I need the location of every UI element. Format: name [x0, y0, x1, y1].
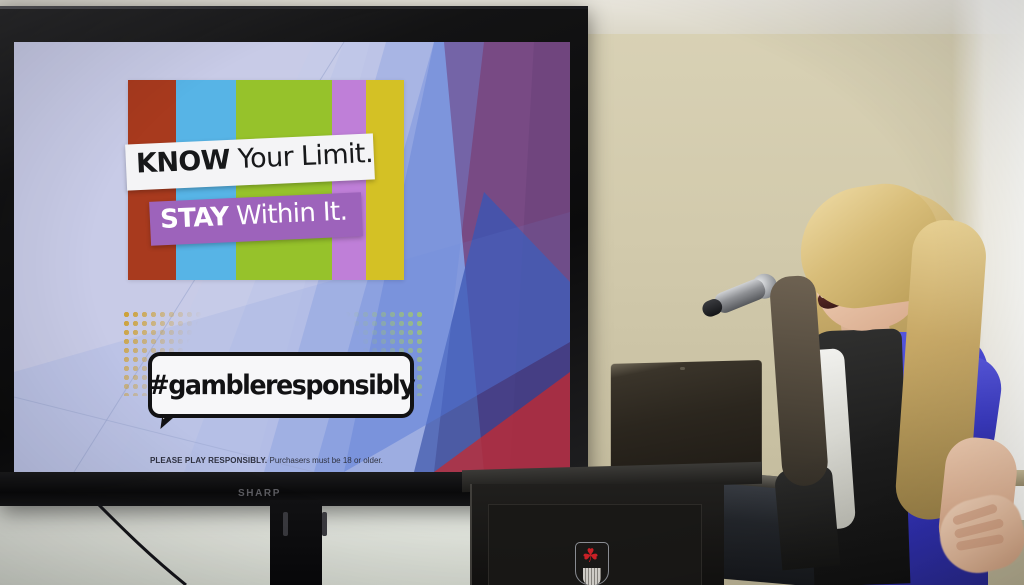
- headline-line2-lead: STAY: [159, 202, 229, 235]
- presentation-slide: KNOW Your Limit. STAY Within It. #gamble…: [14, 42, 570, 472]
- tv-stand-clip-left: [283, 512, 288, 536]
- laptop-camera: [680, 367, 685, 370]
- headline-line1-lead: KNOW: [135, 144, 230, 179]
- fineprint-strong: PLEASE PLAY RESPONSIBLY.: [150, 456, 267, 465]
- photo-scene: KNOW Your Limit. STAY Within It. #gamble…: [0, 0, 1024, 585]
- tv-screen: KNOW Your Limit. STAY Within It. #gamble…: [14, 42, 570, 472]
- speech-bubble: #gambleresponsibly: [148, 352, 414, 418]
- slide-hashtag: #gambleresponsibly: [148, 370, 414, 401]
- tv-brand-logo: SHARP: [238, 488, 281, 499]
- stripe-gold: [366, 80, 404, 280]
- slide-fineprint: PLEASE PLAY RESPONSIBLY. Purchasers must…: [150, 456, 430, 465]
- fineprint-rest: Purchasers must be 18 or older.: [267, 456, 383, 465]
- television: KNOW Your Limit. STAY Within It. #gamble…: [0, 6, 588, 506]
- maple-leaf-icon: ☘: [582, 547, 599, 566]
- presenter: [756, 180, 1024, 585]
- tv-stand-clip-right: [322, 512, 327, 536]
- tv-stand-column: [270, 500, 322, 585]
- crest-base: [583, 568, 601, 585]
- podium-crest: ☘: [575, 542, 609, 585]
- tv-power-cable: [90, 504, 250, 585]
- headline-line2-rest: Within It.: [228, 197, 348, 232]
- headline-line1-rest: Your Limit.: [229, 138, 373, 175]
